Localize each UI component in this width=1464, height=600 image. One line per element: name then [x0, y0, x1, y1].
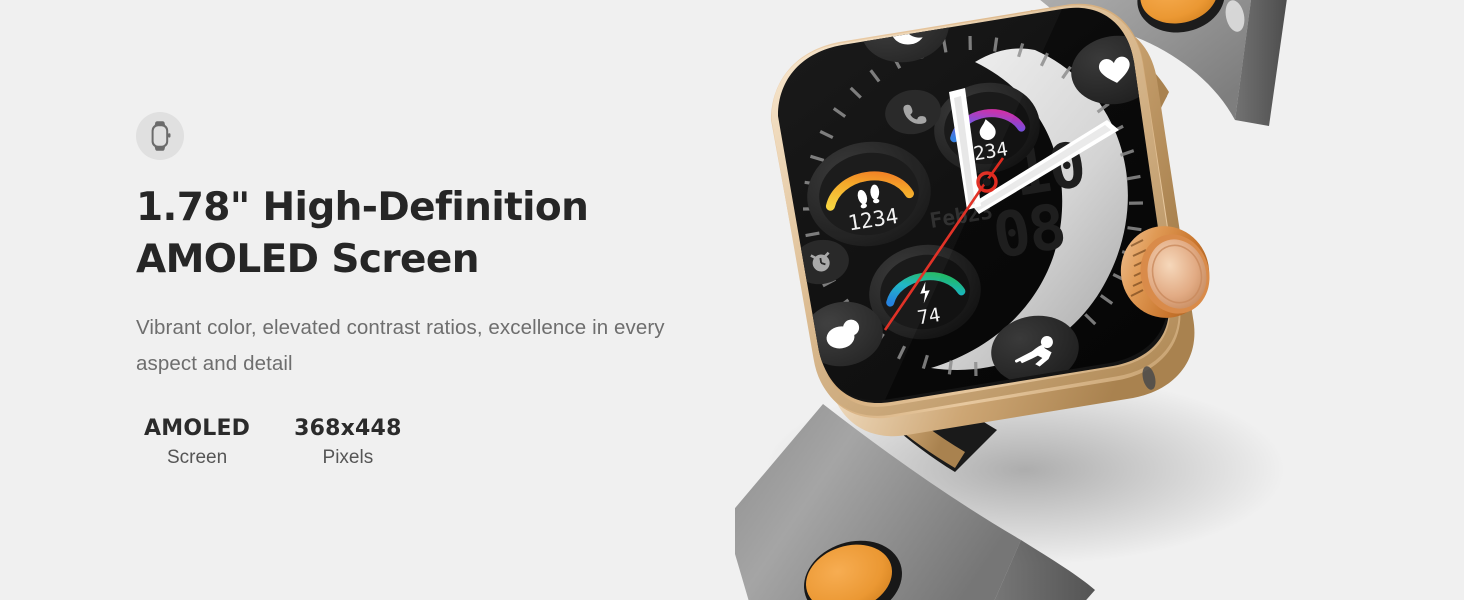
product-feature-banner: 1.78" High-Definition AMOLED Screen Vibr…: [0, 0, 1464, 600]
watch-case: 10 08 Feb23: [755, 0, 1220, 436]
feature-copy-block: 1.78" High-Definition AMOLED Screen Vibr…: [136, 112, 756, 469]
spec-value: AMOLED: [144, 416, 250, 441]
spec-stat-pixels: 368x448 Pixels: [294, 416, 401, 469]
digital-minute: 08: [988, 190, 1069, 273]
spec-stats-row: AMOLED Screen 368x448 Pixels: [136, 416, 756, 469]
spec-value: 368x448: [294, 416, 401, 441]
smartwatch-icon-badge: [136, 112, 184, 160]
spec-label: Pixels: [294, 447, 401, 469]
spec-label: Screen: [144, 447, 250, 469]
feature-description: Vibrant color, elevated contrast ratios,…: [136, 310, 726, 382]
spec-stat-screen: AMOLED Screen: [144, 416, 250, 469]
page-title: 1.78" High-Definition AMOLED Screen: [136, 182, 736, 286]
smartwatch-icon: [147, 121, 173, 151]
smartwatch-product-image: 10 08 Feb23: [735, 0, 1464, 600]
